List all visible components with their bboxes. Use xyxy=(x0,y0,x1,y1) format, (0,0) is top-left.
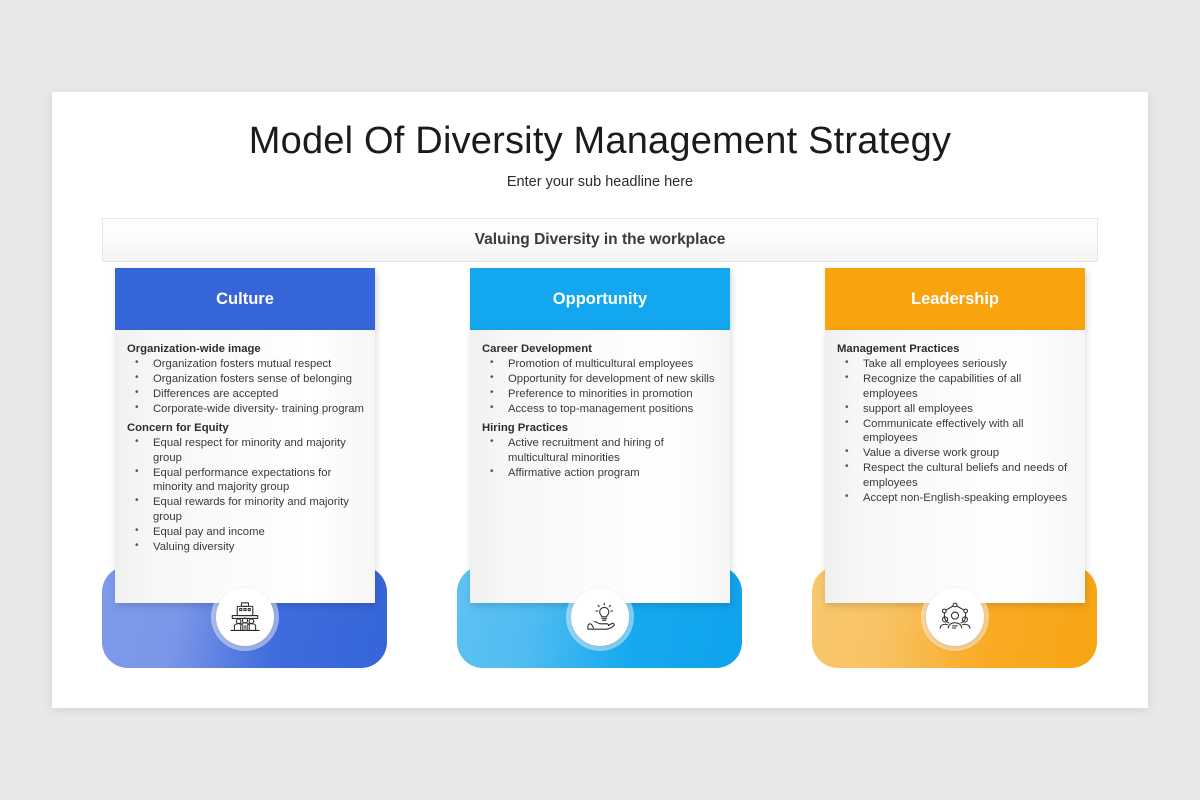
list-item: Recognize the capabilities of all employ… xyxy=(837,372,1075,402)
team-network-icon xyxy=(938,600,972,634)
leadership-icon-badge[interactable] xyxy=(926,588,984,646)
list-item: Communicate effectively with all employe… xyxy=(837,417,1075,447)
list-item: support all employees xyxy=(837,402,1075,417)
list-item: Corporate-wide diversity- training progr… xyxy=(127,402,365,417)
list-item: Active recruitment and hiring of multicu… xyxy=(482,436,720,466)
list-item: Value a diverse work group xyxy=(837,446,1075,461)
section-bullets: Promotion of multicultural employees Opp… xyxy=(482,357,720,416)
list-item: Preference to minorities in promotion xyxy=(482,387,720,402)
list-item: Organization fosters mutual respect xyxy=(127,357,365,372)
list-item: Equal respect for minority and majority … xyxy=(127,436,365,466)
column-leadership[interactable]: Leadership Management Practices Take all… xyxy=(812,268,1097,668)
page-subtitle: Enter your sub headline here xyxy=(52,174,1148,190)
section-bullets: Organization fosters mutual respect Orga… xyxy=(127,357,365,416)
list-item: Access to top-management positions xyxy=(482,402,720,417)
section-bullets: Equal respect for minority and majority … xyxy=(127,436,365,554)
page-title: Model Of Diversity Management Strategy xyxy=(52,120,1148,163)
banner: Valuing Diversity in the workplace xyxy=(102,218,1098,262)
hand-lightbulb-icon xyxy=(583,600,617,634)
section-heading: Management Practices xyxy=(837,342,1075,356)
opportunity-body: Career Development Promotion of multicul… xyxy=(470,330,730,603)
list-item: Opportunity for development of new skill… xyxy=(482,372,720,387)
screenshot-stage: Model Of Diversity Management Strategy E… xyxy=(0,0,1200,800)
list-item: Affirmative action program xyxy=(482,466,720,481)
list-item: Equal rewards for minority and majority … xyxy=(127,495,365,525)
opportunity-header-label: Opportunity xyxy=(553,290,647,309)
list-item: Equal pay and income xyxy=(127,525,365,540)
section-heading: Concern for Equity xyxy=(127,421,365,435)
organization-building-icon xyxy=(228,600,262,634)
culture-icon-badge[interactable] xyxy=(216,588,274,646)
slide-canvas: Model Of Diversity Management Strategy E… xyxy=(52,92,1148,708)
leadership-header[interactable]: Leadership xyxy=(825,268,1085,330)
opportunity-icon-badge[interactable] xyxy=(571,588,629,646)
leadership-header-label: Leadership xyxy=(911,290,999,309)
section-heading: Hiring Practices xyxy=(482,421,720,435)
list-item: Promotion of multicultural employees xyxy=(482,357,720,372)
list-item: Valuing diversity xyxy=(127,540,365,555)
list-item: Differences are accepted xyxy=(127,387,365,402)
list-item: Accept non-English-speaking employees xyxy=(837,491,1075,506)
list-item: Equal performance expectations for minor… xyxy=(127,466,365,496)
column-opportunity[interactable]: Opportunity Career Development Promotion… xyxy=(457,268,742,668)
opportunity-header[interactable]: Opportunity xyxy=(470,268,730,330)
list-item: Respect the cultural beliefs and needs o… xyxy=(837,461,1075,491)
section-bullets: Take all employees seriously Recognize t… xyxy=(837,357,1075,505)
section-heading: Organization-wide image xyxy=(127,342,365,356)
list-item: Organization fosters sense of belonging xyxy=(127,372,365,387)
list-item: Take all employees seriously xyxy=(837,357,1075,372)
section-heading: Career Development xyxy=(482,342,720,356)
culture-body: Organization-wide image Organization fos… xyxy=(115,330,375,603)
culture-header[interactable]: Culture xyxy=(115,268,375,330)
section-bullets: Active recruitment and hiring of multicu… xyxy=(482,436,720,480)
column-culture[interactable]: Culture Organization-wide image Organiza… xyxy=(102,268,387,668)
banner-text: Valuing Diversity in the workplace xyxy=(475,231,726,249)
leadership-body: Management Practices Take all employees … xyxy=(825,330,1085,603)
culture-header-label: Culture xyxy=(216,290,274,309)
